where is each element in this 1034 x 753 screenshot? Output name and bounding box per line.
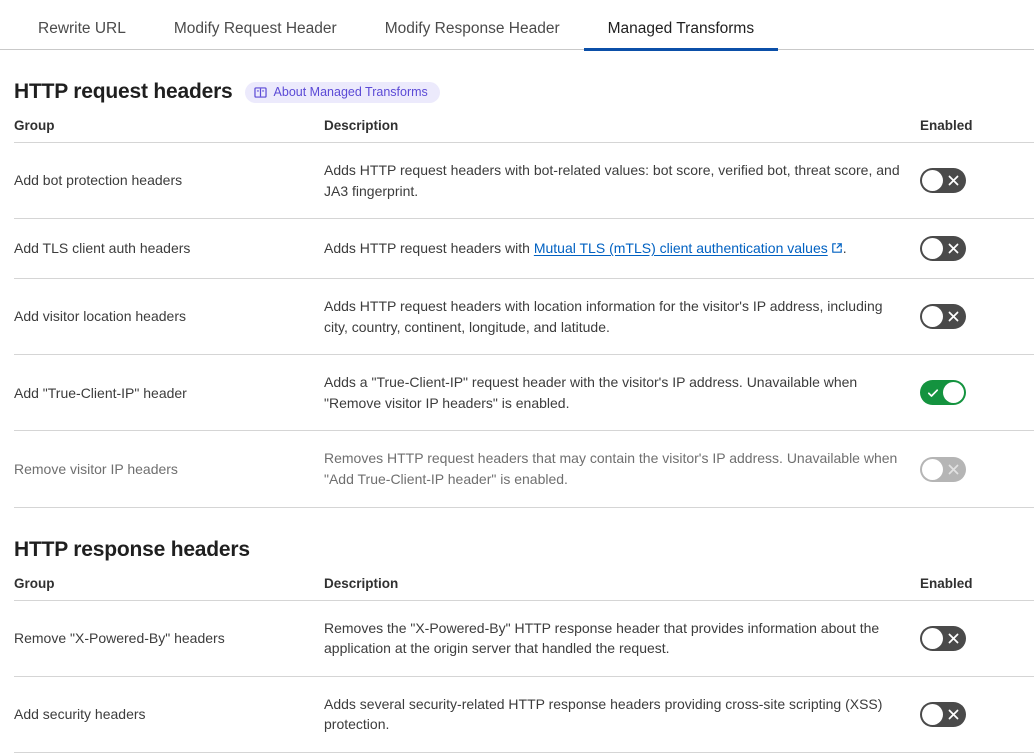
row-enabled-cell [920,431,1034,507]
table-row: Add bot protection headers Adds HTTP req… [14,143,1034,219]
row-enabled-cell [920,143,1034,219]
toggle-knob [943,382,964,403]
column-header-enabled: Enabled [920,576,1034,601]
row-description: Adds a "True-Client-IP" request header w… [320,355,920,431]
row-enabled-cell [920,279,1034,355]
close-icon [948,457,959,482]
table-row: Add visitor location headers Adds HTTP r… [14,279,1034,355]
row-group-name: Add TLS client auth headers [14,219,320,279]
table-row: Remove "X-Powered-By" headers Removes th… [14,600,1034,676]
column-header-group: Group [14,576,320,601]
enabled-toggle[interactable] [920,304,966,329]
column-header-enabled: Enabled [920,118,1034,143]
book-icon [254,86,267,99]
tab-modify-request-header[interactable]: Modify Request Header [150,21,361,51]
enabled-toggle[interactable] [920,626,966,651]
table-row: Add TLS client auth headers Adds HTTP re… [14,219,1034,279]
table-row: Remove visitor IP headers Removes HTTP r… [14,431,1034,507]
close-icon [948,702,959,727]
enabled-toggle[interactable] [920,168,966,193]
managed-transforms-table: Group Description Enabled Remove "X-Powe… [14,576,1034,753]
row-description: Adds HTTP request headers with location … [320,279,920,355]
table-header: Group Description Enabled [14,118,1034,143]
section-http-request-headers: HTTP request headers About Managed Trans… [14,80,1020,508]
table-body: Remove "X-Powered-By" headers Removes th… [14,600,1034,752]
row-enabled-cell [920,355,1034,431]
tab-modify-response-header[interactable]: Modify Response Header [361,21,584,51]
enabled-toggle[interactable] [920,236,966,261]
row-enabled-cell [920,600,1034,676]
row-description: Adds several security-related HTTP respo… [320,676,920,752]
section-title: HTTP request headers [14,80,233,104]
table-header: Group Description Enabled [14,576,1034,601]
close-icon [948,626,959,651]
table-row: Add security headers Adds several securi… [14,676,1034,752]
enabled-toggle[interactable] [920,702,966,727]
row-group-name: Add "True-Client-IP" header [14,355,320,431]
tab-label: Modify Request Header [174,20,337,37]
toggle-knob [922,306,943,327]
row-enabled-cell [920,219,1034,279]
table-header-row: Group Description Enabled [14,118,1034,143]
row-description: Removes HTTP request headers that may co… [320,431,920,507]
close-icon [948,304,959,329]
enabled-toggle [920,457,966,482]
toggle-knob [922,238,943,259]
check-icon [927,380,939,405]
row-group-name: Add bot protection headers [14,143,320,219]
row-group-name: Remove "X-Powered-By" headers [14,600,320,676]
about-managed-transforms-badge[interactable]: About Managed Transforms [245,82,440,103]
table-row: Add "True-Client-IP" header Adds a "True… [14,355,1034,431]
row-description: Adds HTTP request headers with Mutual TL… [320,219,920,279]
managed-transforms-table: Group Description Enabled Add bot protec… [14,118,1034,508]
tab-label: Rewrite URL [38,20,126,37]
tab-bar: Rewrite URL Modify Request Header Modify… [0,0,1034,50]
toggle-knob [922,704,943,725]
column-header-description: Description [320,576,920,601]
tab-managed-transforms[interactable]: Managed Transforms [584,21,778,51]
section-http-request-headers: HTTP request headers About Managed Trans… [0,80,1034,753]
row-group-name: Add visitor location headers [14,279,320,355]
toggle-knob [922,628,943,649]
row-description: Adds HTTP request headers with bot-relat… [320,143,920,219]
column-header-description: Description [320,118,920,143]
close-icon [948,168,959,193]
tab-rewrite-url[interactable]: Rewrite URL [14,21,150,51]
row-group-name: Remove visitor IP headers [14,431,320,507]
row-description: Removes the "X-Powered-By" HTTP response… [320,600,920,676]
column-header-group: Group [14,118,320,143]
section-http-response-headers: HTTP response headers Group Description … [14,538,1020,753]
toggle-knob [922,459,943,480]
section-header: HTTP request headers About Managed Trans… [14,80,1020,104]
tab-label: Managed Transforms [608,20,754,37]
section-header: HTTP response headers [14,538,1020,562]
tab-label: Modify Response Header [385,20,560,37]
toggle-knob [922,170,943,191]
description-link[interactable]: Mutual TLS (mTLS) client authentication … [534,240,843,256]
close-icon [948,236,959,261]
row-group-name: Add security headers [14,676,320,752]
row-enabled-cell [920,676,1034,752]
badge-label: About Managed Transforms [274,86,428,99]
table-header-row: Group Description Enabled [14,576,1034,601]
enabled-toggle[interactable] [920,380,966,405]
section-title: HTTP response headers [14,538,250,562]
table-body: Add bot protection headers Adds HTTP req… [14,143,1034,508]
